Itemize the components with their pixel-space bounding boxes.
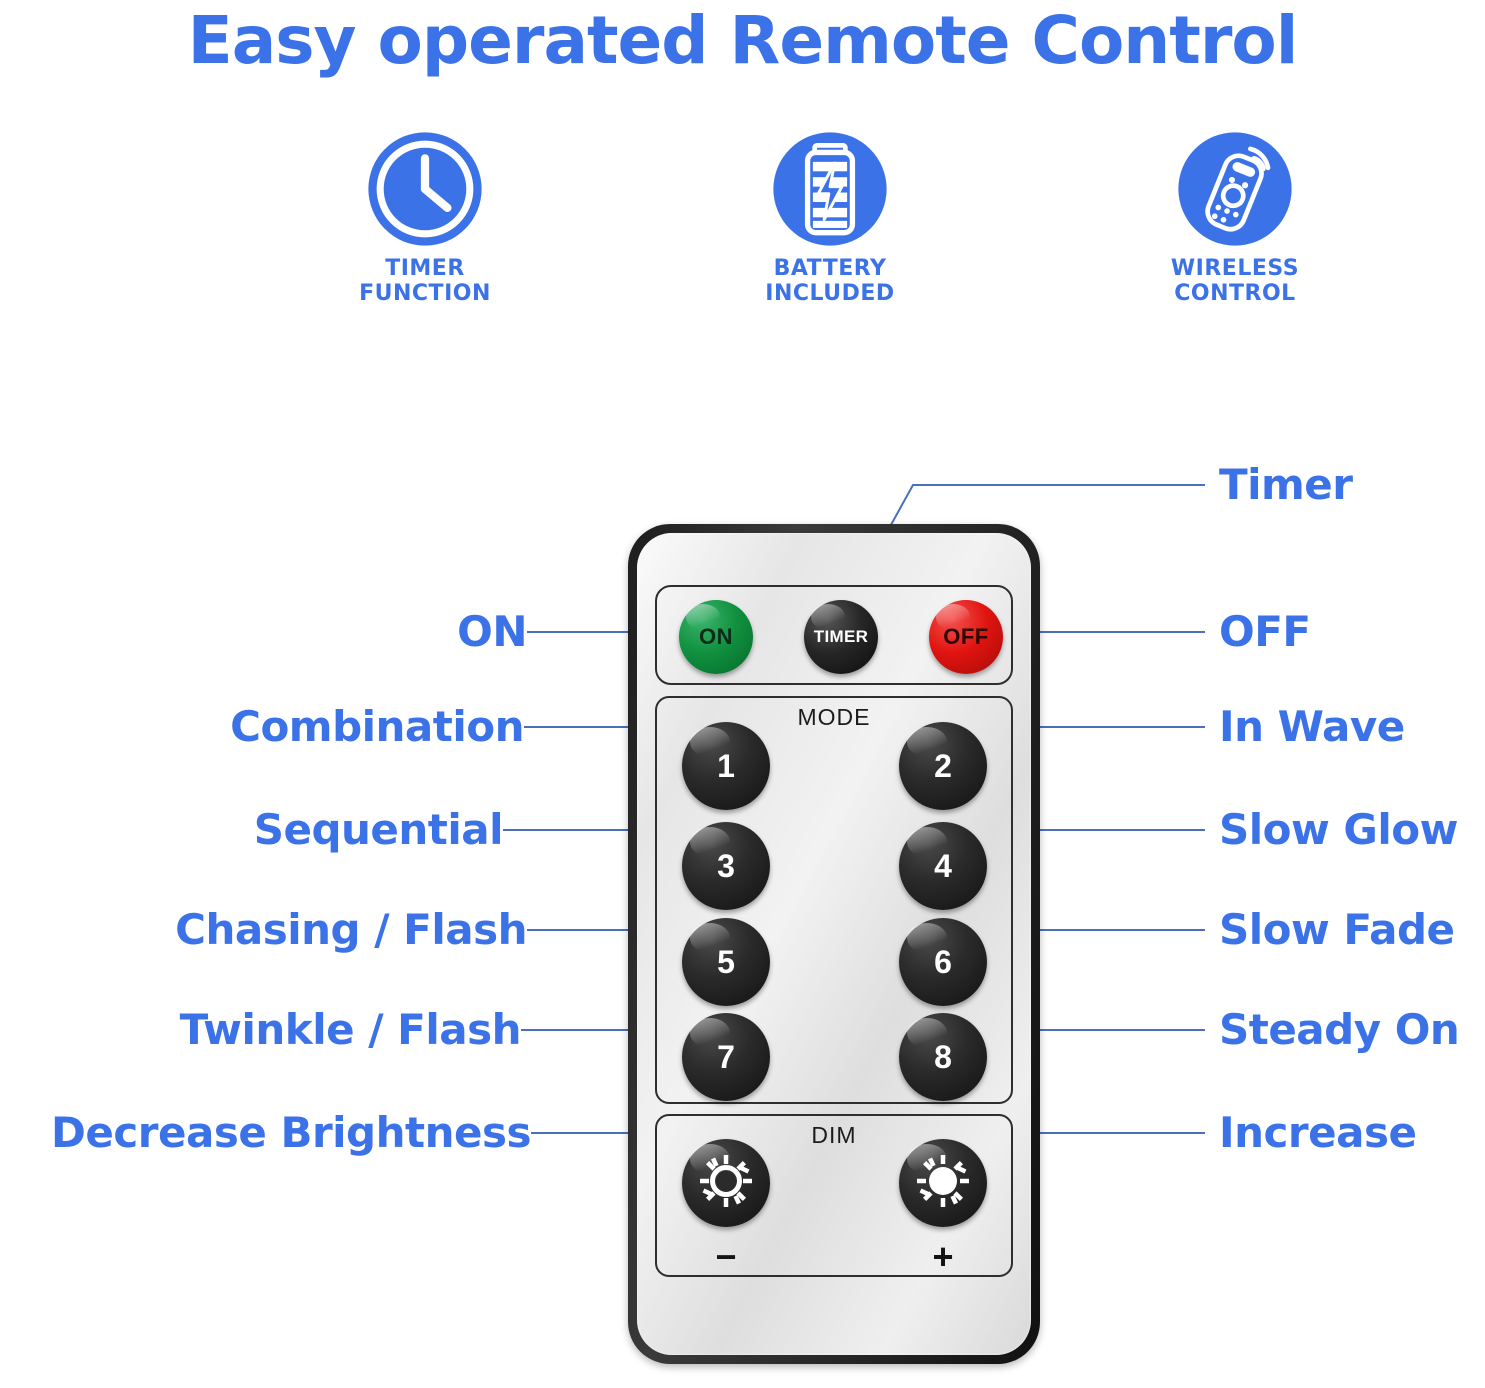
- callout-slow-fade: Slow Fade: [1219, 909, 1455, 951]
- callout-on: ON: [0, 611, 527, 653]
- mode-button-6[interactable]: 6: [899, 918, 987, 1006]
- mode-button-7[interactable]: 7: [682, 1013, 770, 1101]
- dim-up-button[interactable]: [899, 1139, 987, 1227]
- feature-battery-included: BATTERY INCLUDED: [705, 130, 955, 307]
- on-button[interactable]: ON: [679, 600, 753, 674]
- dim-minus-sign: −: [682, 1236, 770, 1278]
- timer-button[interactable]: TIMER: [804, 600, 878, 674]
- callout-increase: Increase: [1219, 1112, 1416, 1154]
- feature-label: WIRELESS CONTROL: [1171, 256, 1299, 307]
- callout-slow-glow: Slow Glow: [1219, 809, 1458, 851]
- mode-button-5[interactable]: 5: [682, 918, 770, 1006]
- mode-button-2[interactable]: 2: [899, 722, 987, 810]
- feature-badges: TIMER FUNCTION BATTERY INCLUDED: [300, 130, 1360, 307]
- remote-signal-icon: [1176, 130, 1294, 248]
- callout-decrease-brightness: Decrease Brightness: [0, 1112, 531, 1154]
- feature-wireless-control: WIRELESS CONTROL: [1110, 130, 1360, 307]
- callout-steady-on: Steady On: [1219, 1009, 1459, 1051]
- mode-button-label: 2: [934, 748, 952, 785]
- callout-off: OFF: [1219, 611, 1311, 653]
- battery-icon: [771, 130, 889, 248]
- off-button-label: OFF: [943, 624, 989, 650]
- feature-label: BATTERY INCLUDED: [765, 256, 894, 307]
- off-button[interactable]: OFF: [929, 600, 1003, 674]
- dim-button-group: DIM: [655, 1114, 1013, 1277]
- mode-button-label: 6: [934, 944, 952, 981]
- callout-sequential: Sequential: [0, 809, 503, 851]
- mode-button-8[interactable]: 8: [899, 1013, 987, 1101]
- page-title: Easy operated Remote Control: [0, 2, 1485, 79]
- product-infographic: Easy operated Remote Control TIMER FUNCT…: [0, 0, 1485, 1388]
- feature-label: TIMER FUNCTION: [359, 256, 491, 307]
- sun-bright-icon: [912, 1150, 974, 1217]
- sun-dim-icon: [695, 1150, 757, 1217]
- dim-down-button[interactable]: [682, 1139, 770, 1227]
- power-button-group: ON TIMER OFF: [655, 585, 1013, 685]
- mode-button-label: 3: [717, 848, 735, 885]
- callout-timer: Timer: [1219, 464, 1353, 506]
- feature-timer-function: TIMER FUNCTION: [300, 130, 550, 307]
- remote-control-device: ON TIMER OFF MODE 1 2 3 4: [628, 524, 1040, 1364]
- mode-button-1[interactable]: 1: [682, 722, 770, 810]
- mode-button-label: 1: [717, 748, 735, 785]
- clock-icon: [366, 130, 484, 248]
- mode-button-label: 7: [717, 1039, 735, 1076]
- callout-chasing-flash: Chasing / Flash: [0, 909, 527, 951]
- mode-button-label: 5: [717, 944, 735, 981]
- remote-faceplate: ON TIMER OFF MODE 1 2 3 4: [637, 533, 1031, 1355]
- mode-button-4[interactable]: 4: [899, 822, 987, 910]
- timer-button-label: TIMER: [814, 627, 868, 647]
- callout-combination: Combination: [0, 706, 524, 748]
- mode-button-label: 8: [934, 1039, 952, 1076]
- on-button-label: ON: [699, 624, 733, 650]
- mode-button-label: 4: [934, 848, 952, 885]
- dim-plus-sign: +: [899, 1236, 987, 1278]
- callout-in-wave: In Wave: [1219, 706, 1405, 748]
- callout-twinkle-flash: Twinkle / Flash: [0, 1009, 521, 1051]
- mode-button-3[interactable]: 3: [682, 822, 770, 910]
- mode-button-group: MODE 1 2 3 4 5 6 7 8: [655, 696, 1013, 1104]
